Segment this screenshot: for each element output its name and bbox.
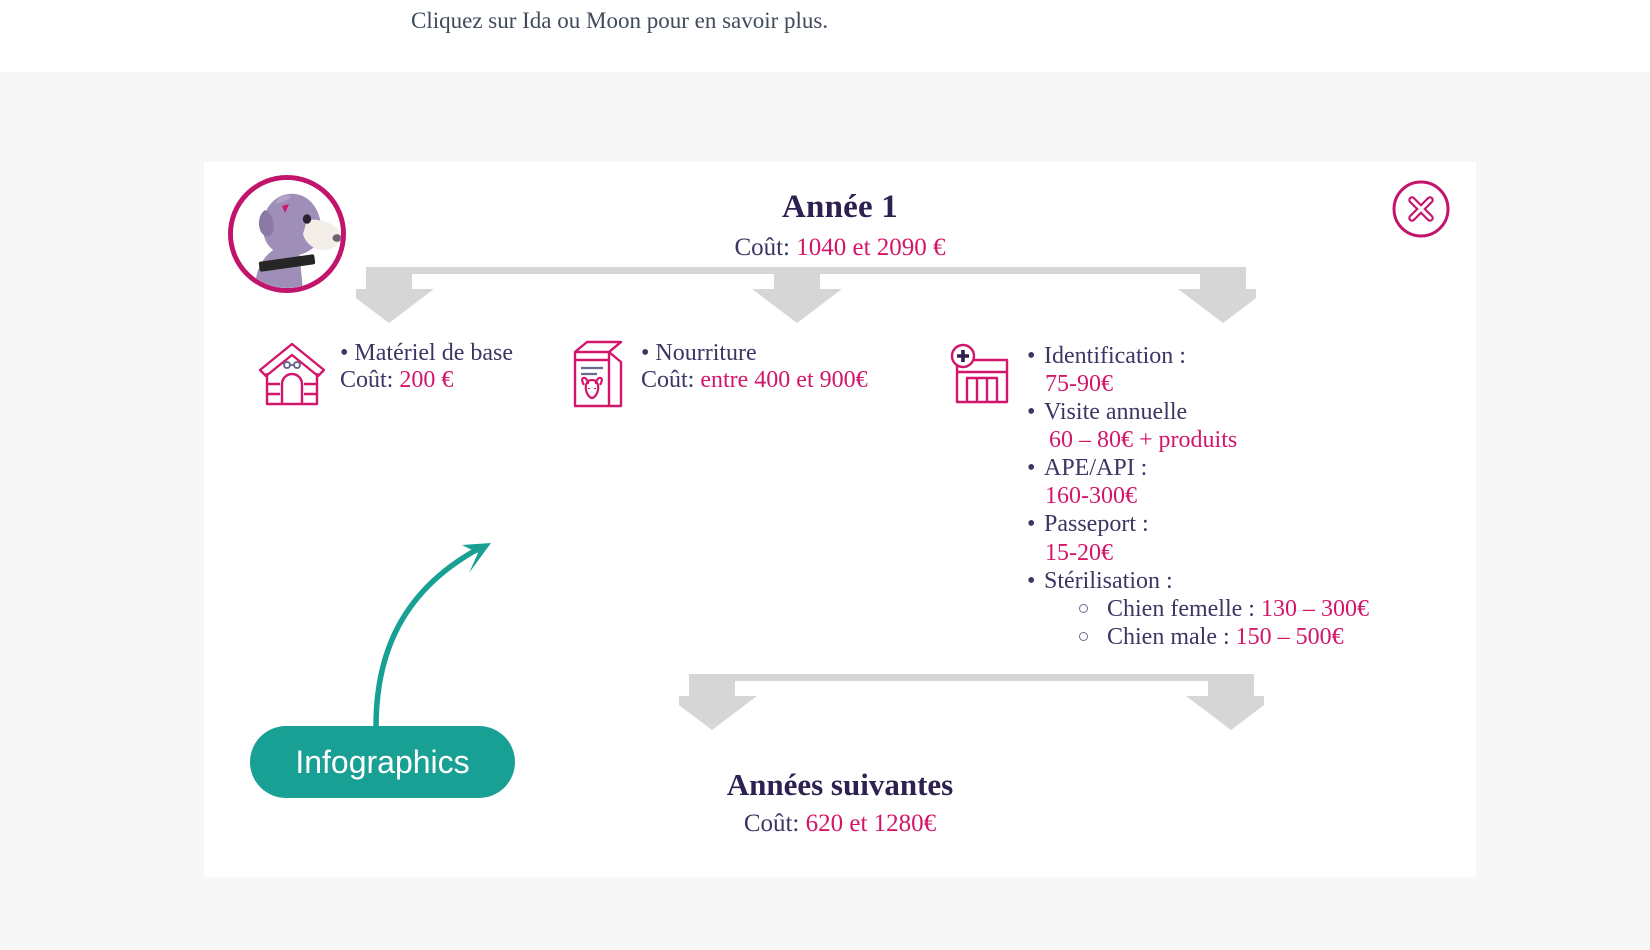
curved-arrow-annotation bbox=[370, 515, 520, 730]
vet-item-amount: 15-20€ bbox=[1027, 539, 1369, 567]
vet-clinic-icon-wrap bbox=[949, 342, 1015, 413]
list-item: Passeport : 15-20€ bbox=[1027, 510, 1369, 566]
column-nourriture: • Nourriture Coût: entre 400 et 900€ bbox=[567, 340, 868, 413]
column-nourriture-cost: Coût: entre 400 et 900€ bbox=[641, 367, 868, 394]
hollow-bullet-icon bbox=[1079, 632, 1088, 641]
vet-item-label: Visite annuelle bbox=[1027, 398, 1369, 426]
column-nourriture-text: • Nourriture Coût: entre 400 et 900€ bbox=[641, 340, 868, 394]
sub-item-amount: 130 – 300€ bbox=[1261, 596, 1369, 622]
food-bag-icon bbox=[567, 340, 629, 408]
column-materiel-label: • Matériel de base bbox=[340, 340, 513, 367]
vet-cost-list: Identification : 75-90€ Visite annuelle … bbox=[1027, 342, 1369, 651]
arrow-row-icon bbox=[679, 674, 1264, 732]
year1-cost: Coût: 1040 et 2090 € bbox=[204, 234, 1476, 262]
vet-item-amount: 60 – 80€ + produits bbox=[1027, 426, 1369, 454]
dog-house-icon-wrap bbox=[256, 340, 328, 413]
annees-suivantes-cost: Coût: 620 et 1280€ bbox=[204, 810, 1476, 838]
sub-item-label: Chien male : bbox=[1107, 624, 1230, 650]
column-nourriture-label: • Nourriture bbox=[641, 340, 868, 367]
sub-item-amount: 150 – 500€ bbox=[1236, 624, 1344, 650]
top-intro-strip: Cliquez sur Ida ou Moon pour en savoir p… bbox=[0, 0, 1650, 72]
connector-arrows-top bbox=[356, 267, 1256, 325]
arrow-row-icon bbox=[356, 267, 1256, 325]
dog-house-icon bbox=[256, 340, 328, 408]
column-veterinaire: Identification : 75-90€ Visite annuelle … bbox=[949, 342, 1369, 651]
list-item: Chien femelle : 130 – 300€ bbox=[1027, 595, 1369, 623]
vet-item-label: APE/API : bbox=[1027, 454, 1369, 482]
column-materiel-text: • Matériel de base Coût: 200 € bbox=[340, 340, 513, 394]
column-nourriture-label-text: Nourriture bbox=[655, 340, 756, 366]
hollow-bullet-icon bbox=[1079, 604, 1088, 613]
year1-cost-value: 1040 et 2090 € bbox=[796, 234, 945, 261]
list-item: Visite annuelle 60 – 80€ + produits bbox=[1027, 398, 1369, 454]
column-materiel: • Matériel de base Coût: 200 € bbox=[256, 340, 513, 413]
food-bag-icon-wrap bbox=[567, 340, 629, 413]
infographics-badge[interactable]: Infographics bbox=[250, 726, 515, 798]
vet-item-label: Passeport : bbox=[1027, 510, 1369, 538]
sub-item-label: Chien femelle : bbox=[1107, 596, 1255, 622]
list-item: Identification : 75-90€ bbox=[1027, 342, 1369, 398]
cost-value: entre 400 et 900€ bbox=[700, 367, 867, 393]
curved-arrow-icon bbox=[370, 515, 520, 730]
cost-value: 200 € bbox=[399, 367, 453, 393]
column-materiel-cost: Coût: 200 € bbox=[340, 367, 513, 394]
cost-label: Coût: bbox=[641, 367, 694, 393]
list-item: APE/API : 160-300€ bbox=[1027, 454, 1369, 510]
list-item: Stérilisation : bbox=[1027, 567, 1369, 595]
infographics-badge-label: Infographics bbox=[295, 744, 469, 781]
cost-value: 620 et 1280€ bbox=[806, 810, 937, 837]
vet-item-amount: 75-90€ bbox=[1027, 370, 1369, 398]
vet-item-label: Identification : bbox=[1027, 342, 1369, 370]
vet-clinic-icon bbox=[949, 342, 1015, 408]
bullet-marker: • bbox=[641, 340, 649, 366]
vet-item-label: Stérilisation : bbox=[1027, 567, 1369, 595]
page-title: Année 1 bbox=[204, 189, 1476, 226]
cost-label: Coût: bbox=[340, 367, 393, 393]
intro-text: Cliquez sur Ida ou Moon pour en savoir p… bbox=[411, 8, 828, 34]
list-item: Chien male : 150 – 500€ bbox=[1027, 623, 1369, 651]
connector-arrows-bottom bbox=[679, 674, 1264, 732]
cost-label: Coût: bbox=[744, 810, 800, 837]
year1-cost-label: Coût: bbox=[734, 234, 790, 261]
column-materiel-label-text: Matériel de base bbox=[354, 340, 513, 366]
vet-item-amount: 160-300€ bbox=[1027, 482, 1369, 510]
bullet-marker: • bbox=[340, 340, 348, 366]
